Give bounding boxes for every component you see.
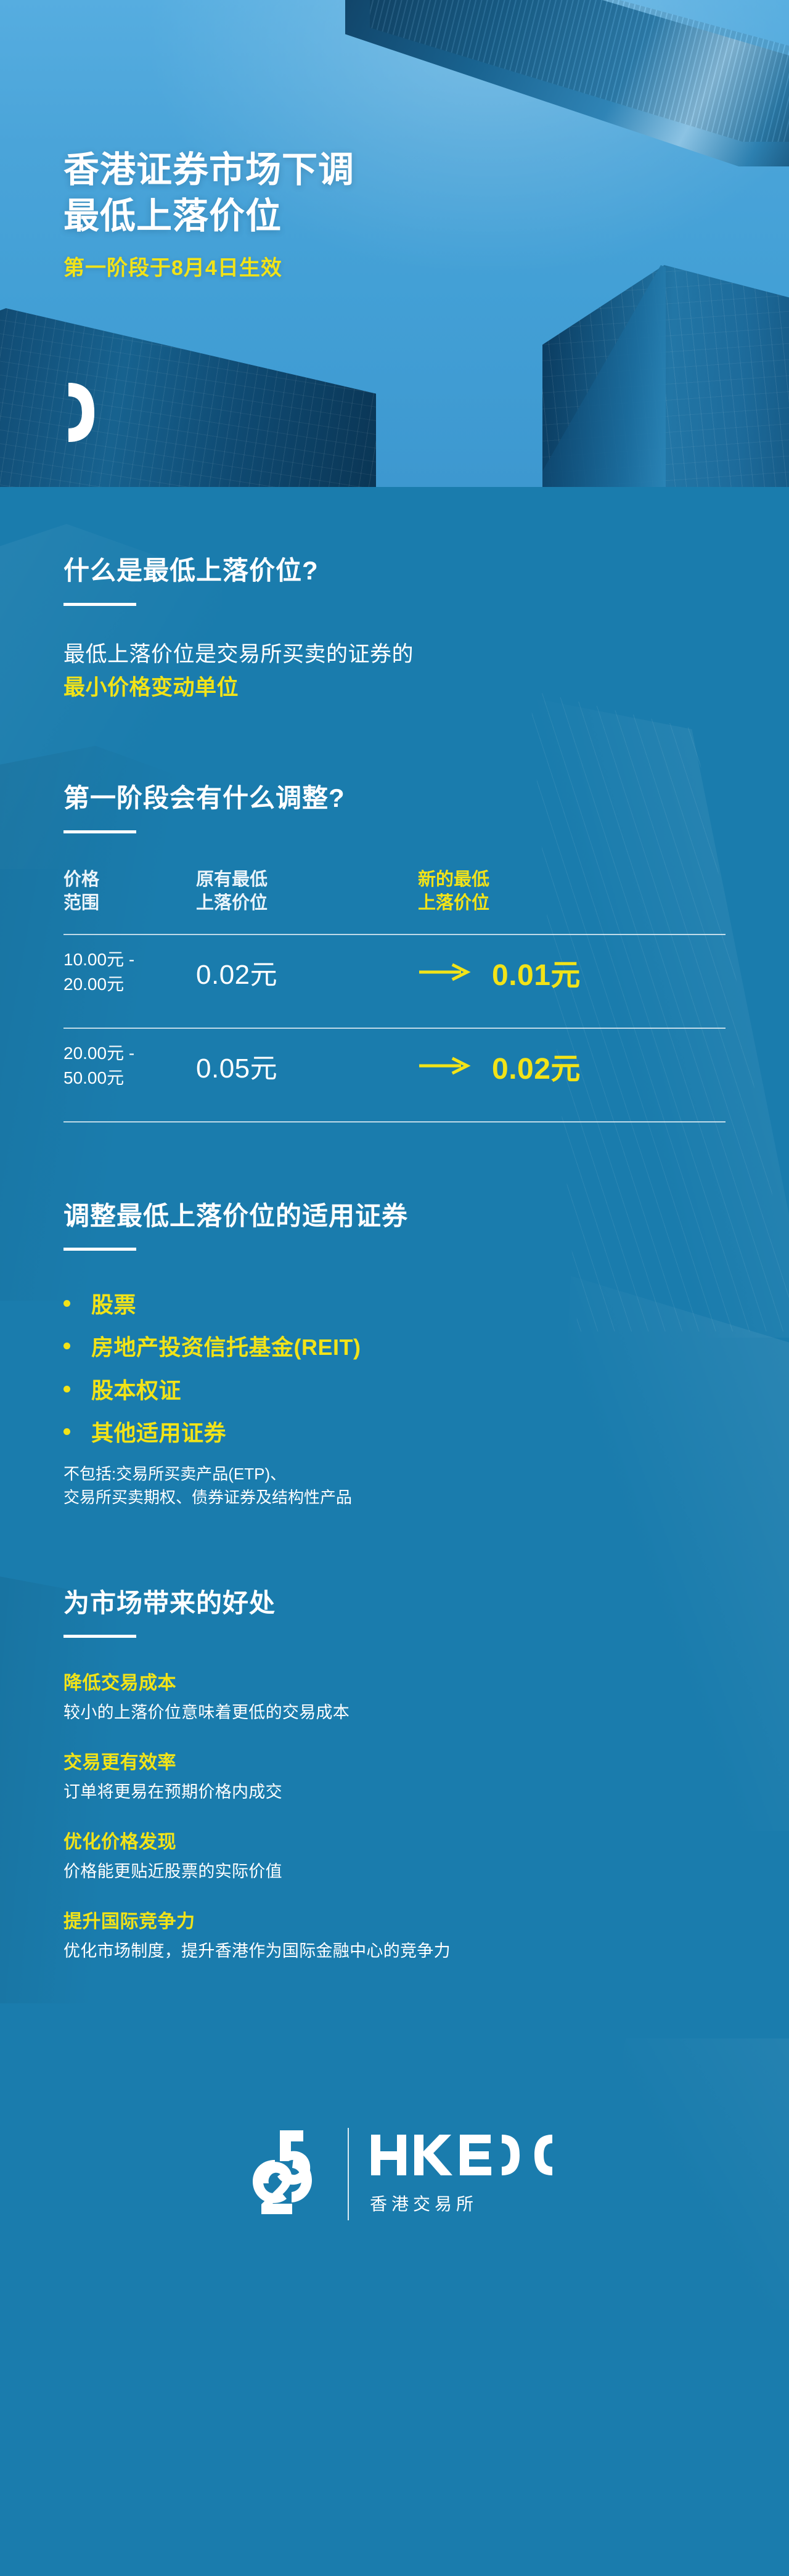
section-what-heading: 什么是最低上落价位? [63, 555, 726, 587]
hero-title: 香港证券市场下调 最低上落价位 [63, 147, 354, 240]
table-row: 10.00元 - 20.00元 0.02元 0.01元 [63, 935, 726, 1009]
hero-banner: 香港证券市场下调 最低上落价位 第一阶段于8月4日生效 [0, 0, 789, 487]
table-cell-new-tick: 0.02元 [492, 1044, 726, 1087]
section-phase-one-heading: 第一阶段会有什么调整? [63, 782, 726, 815]
section-applicable-securities: 调整最低上落价位的适用证券 股票 房地产投资信托基金(REIT) 股本权证 [63, 1200, 726, 1510]
hkex-logo-lockup: 香港交易所 [234, 2123, 555, 2225]
anniversary-25-mark-icon [234, 2123, 327, 2225]
arrow-right-icon [418, 963, 492, 981]
benefit-item: 提升国际竞争力 优化市场制度，提升香港作为国际金融中心的竞争力 [63, 1910, 726, 1963]
list-item-label: 股票 [91, 1291, 136, 1318]
list-item-label: 股本权证 [91, 1377, 181, 1404]
section-what-line-2-highlight: 最小价格变动单位 [63, 671, 726, 705]
table-header-row: 价格 范围 原有最低 上落价位 新的最低 上落价位 [63, 868, 726, 915]
hkex-wordmark-icon [370, 2132, 555, 2181]
list-item: 房地产投资信托基金(REIT) [63, 1334, 726, 1360]
arrow-right-icon [418, 1057, 492, 1075]
list-item: 股本权证 [63, 1377, 726, 1404]
section-market-benefits: 为市场带来的好处 降低交易成本 较小的上落价位意味着更低的交易成本 交易更有效率… [63, 1587, 726, 1963]
table-cell-old-tick: 0.05元 [196, 1046, 418, 1086]
benefit-description: 优化市场制度，提升香港作为国际金融中心的竞争力 [63, 1940, 726, 1963]
section-securities-heading: 调整最低上落价位的适用证券 [63, 1200, 726, 1233]
benefit-title: 降低交易成本 [63, 1671, 726, 1695]
benefit-description: 价格能更贴近股票的实际价值 [63, 1860, 726, 1884]
table-cell-old-tick: 0.02元 [196, 952, 418, 992]
benefit-description: 较小的上落价位意味着更低的交易成本 [63, 1701, 726, 1725]
infographic-page: 香港证券市场下调 最低上落价位 第一阶段于8月4日生效 什么是最低上落价位? [0, 0, 789, 2576]
bullet-dot-icon [63, 1300, 70, 1307]
bullet-dot-icon [63, 1343, 70, 1349]
benefit-description: 订单将更易在预期价格内成交 [63, 1781, 726, 1804]
section-what-line-1: 最低上落价位是交易所买卖的证券的 [63, 638, 726, 671]
list-item-label: 房地产投资信托基金(REIT) [91, 1334, 361, 1360]
benefit-item: 优化价格发现 价格能更贴近股票的实际价值 [63, 1830, 726, 1884]
benefit-title: 提升国际竞争力 [63, 1910, 726, 1934]
bullet-dot-icon [63, 1428, 70, 1435]
table-cell-new-tick: 0.01元 [492, 951, 726, 994]
table-row: 20.00元 - 50.00元 0.05元 0.02元 [63, 1029, 726, 1103]
table-header-new-tick: 新的最低 上落价位 [418, 868, 726, 915]
body-content: 什么是最低上落价位? 最低上落价位是交易所买卖的证券的 最小价格变动单位 第一阶… [0, 487, 789, 2310]
table-header-price-range: 价格 范围 [63, 868, 196, 915]
table-header-old-tick: 原有最低 上落价位 [196, 868, 418, 915]
section-benefits-heading: 为市场带来的好处 [63, 1587, 726, 1620]
list-item: 股票 [63, 1291, 726, 1318]
table-cell-price-range: 20.00元 - 50.00元 [63, 1041, 196, 1090]
section-what-is-tick-size: 什么是最低上落价位? 最低上落价位是交易所买卖的证券的 最小价格变动单位 [63, 555, 726, 705]
tick-size-table: 价格 范围 原有最低 上落价位 新的最低 上落价位 10.00元 - 20.00… [63, 868, 726, 1122]
bullet-dot-icon [63, 1386, 70, 1392]
hkex-x-mark-icon [63, 380, 128, 444]
benefit-title: 优化价格发现 [63, 1830, 726, 1854]
hkex-wordmark-block: 香港交易所 [370, 2132, 555, 2215]
section-what-body: 最低上落价位是交易所买卖的证券的 最小价格变动单位 [63, 638, 726, 705]
section-phase-one: 第一阶段会有什么调整? 价格 范围 原有最低 上落价位 新的最低 上落价位 10… [63, 782, 726, 1122]
logo-divider [348, 2128, 349, 2220]
benefits-list: 降低交易成本 较小的上落价位意味着更低的交易成本 交易更有效率 订单将更易在预期… [63, 1671, 726, 1963]
hero-text-block: 香港证券市场下调 最低上落价位 第一阶段于8月4日生效 [63, 147, 354, 281]
benefit-item: 交易更有效率 订单将更易在预期价格内成交 [63, 1751, 726, 1804]
footer: 香港交易所 [0, 2038, 789, 2310]
list-item-label: 其他适用证券 [91, 1420, 226, 1446]
section-what-rule [63, 603, 136, 606]
footer-bg-silhouette [579, 2038, 789, 2310]
hero-subtitle: 第一阶段于8月4日生效 [63, 251, 354, 281]
hkex-wordmark-chinese: 香港交易所 [370, 2191, 478, 2215]
securities-list: 股票 房地产投资信托基金(REIT) 股本权证 其他适用证券 [63, 1291, 726, 1446]
securities-exclusion-note: 不包括:交易所买卖产品(ETP)、 交易所买卖期权、债券证券及结构性产品 [63, 1462, 726, 1510]
section-benefits-rule [63, 1635, 136, 1638]
table-cell-price-range: 10.00元 - 20.00元 [63, 947, 196, 997]
benefit-title: 交易更有效率 [63, 1751, 726, 1775]
section-phase-one-rule [63, 830, 136, 833]
table-divider-bottom [63, 1121, 726, 1122]
list-item: 其他适用证券 [63, 1420, 726, 1446]
section-securities-rule [63, 1248, 136, 1251]
benefit-item: 降低交易成本 较小的上落价位意味着更低的交易成本 [63, 1671, 726, 1725]
